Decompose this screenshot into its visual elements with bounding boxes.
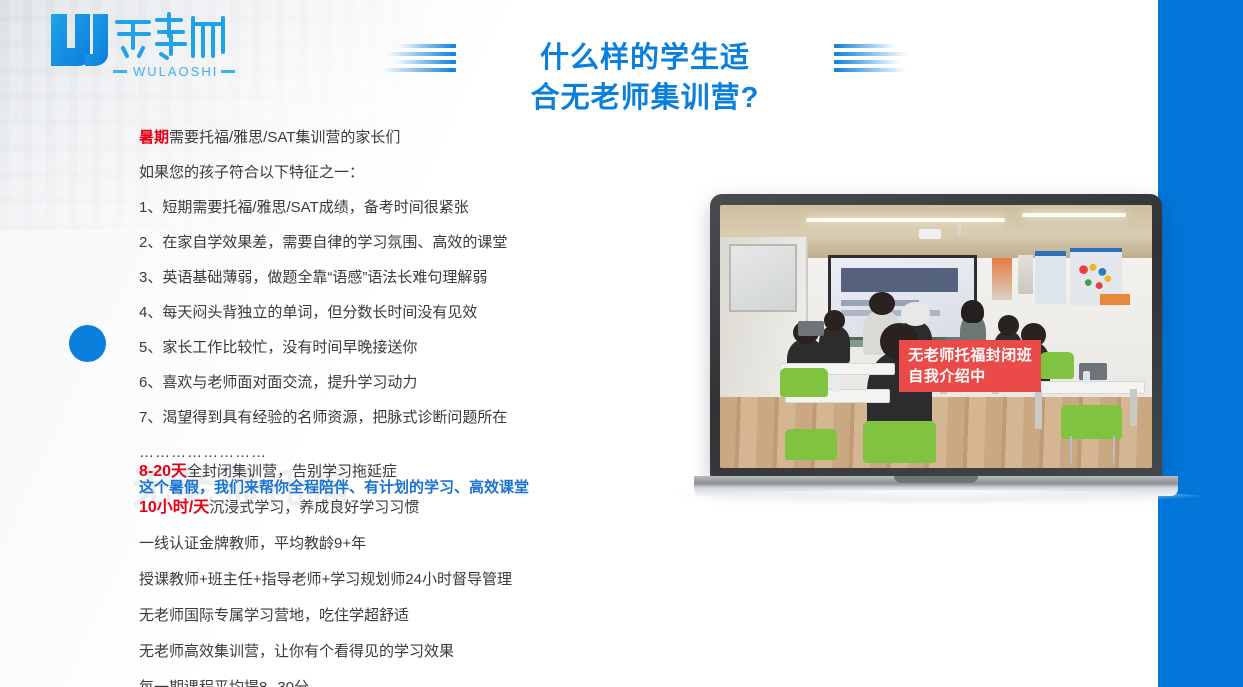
photo-projector-arm (958, 223, 961, 235)
feature-text: 每一期课程平均提8--30分 (139, 679, 309, 687)
laptop-base-shadow (666, 490, 1206, 504)
photo-wall-map (1035, 251, 1065, 304)
feature-text: 无老师高效集训营，让你有个看得见的学习效果 (139, 643, 454, 660)
ellipsis-line: …………………… (139, 443, 609, 463)
decorative-stripes-right (834, 44, 912, 72)
photo-chair (785, 429, 837, 461)
feature-text: 全封闭集训营，告别学习拖延症 (187, 463, 397, 480)
photo-teacher-hair (961, 300, 984, 324)
photo-bottle (832, 376, 840, 392)
photo-chair-leg (1113, 436, 1115, 462)
list-item: 1、短期需要托福/雅思/SAT成绩，备考时间很紧张 (139, 198, 609, 218)
photo-chair (780, 368, 828, 397)
body-copy-features: 8-20天全封闭集训营，告别学习拖延症 10小时/天沉浸式学习，养成良好学习习惯… (139, 462, 609, 687)
photo-caption-label: 无老师托福封闭班 自我介绍中 (899, 340, 1041, 392)
feature-row: 10小时/天沉浸式学习，养成良好学习习惯 (139, 498, 609, 518)
photo-caption-line-2: 自我介绍中 (908, 366, 1032, 387)
title-line-1: 什么样的学生适 (540, 38, 750, 78)
title-line-2: 合无老师集训营? (531, 78, 760, 118)
feature-row: 一线认证金牌教师，平均教龄9+年 (139, 534, 609, 554)
photo-student-cap (901, 302, 929, 326)
photo-bottle (1083, 371, 1090, 384)
slide-canvas: 无老师托福 (0, 0, 1243, 687)
photo-desk-leg (1035, 389, 1042, 428)
feature-highlight: 8-20天 (139, 463, 187, 480)
photo-wall-poster (1018, 255, 1033, 294)
laptop-screen: 无老师托福封闭班 自我介绍中 (720, 205, 1152, 468)
list-item: 7、渴望得到具有经验的名师资源，把脉式诊断问题所在 (139, 408, 609, 428)
feature-text: 沉浸式学习，养成良好学习习惯 (209, 499, 419, 516)
photo-slide-block (841, 268, 958, 292)
photo-chair (1040, 352, 1075, 378)
feature-row: 授课教师+班主任+指导老师+学习规划师24小时督导管理 (139, 570, 609, 590)
photo-desk-leg (1130, 389, 1137, 426)
photo-caption-line-1: 无老师托福封闭班 (908, 345, 1032, 366)
photo-laptop (798, 321, 824, 337)
wulaoshi-logo-icon: WULAOSHI (45, 8, 240, 80)
list-item: 3、英语基础薄弱，做题全靠“语感”语法长难句理解弱 (139, 268, 609, 288)
intro-rest: 需要托福/雅思/SAT集训营的家长们 (169, 129, 400, 146)
decorative-blue-dot (69, 325, 106, 362)
photo-wall-poster (1100, 294, 1130, 305)
page-title: 什么样的学生适 合无老师集训营? (430, 38, 860, 118)
photo-ceiling-light (1022, 213, 1126, 217)
photo-chair (1061, 405, 1121, 439)
feature-row: 每一期课程平均提8--30分 (139, 678, 609, 687)
subtitle-line: 如果您的孩子符合以下特征之一： (139, 163, 609, 183)
photo-chair (863, 421, 936, 463)
feature-text: 一线认证金牌教师，平均教龄9+年 (139, 535, 366, 552)
title-line-1-row: 什么样的学生适 (430, 38, 860, 78)
list-item: 6、喜欢与老师面对面交流，提升学习动力 (139, 373, 609, 393)
photo-wall-poster (992, 258, 1011, 300)
photo-window (729, 244, 798, 311)
intro-highlight: 暑期 (139, 129, 169, 146)
feature-row: 8-20天全封闭集训营，告别学习拖延症 (139, 462, 609, 482)
list-item: 2、在家自学效果差，需要自律的学习氛围、高效的课堂 (139, 233, 609, 253)
feature-row: 无老师高效集训营，让你有个看得见的学习效果 (139, 642, 609, 662)
photo-ceiling-light (806, 218, 1005, 222)
intro-line: 暑期需要托福/雅思/SAT集训营的家长们 (139, 128, 609, 148)
feature-row: 无老师国际专属学习营地，吃住学超舒适 (139, 606, 609, 626)
svg-text:WULAOSHI: WULAOSHI (133, 64, 218, 79)
laptop-lid: 无老师托福封闭班 自我介绍中 (710, 194, 1162, 479)
feature-text: 授课教师+班主任+指导老师+学习规划师24小时督导管理 (139, 571, 512, 588)
photo-projector (919, 229, 941, 239)
body-copy-top: 暑期需要托福/雅思/SAT集训营的家长们 如果您的孩子符合以下特征之一： 1、短… (139, 128, 609, 513)
brand-logo: WULAOSHI (45, 8, 240, 80)
feature-highlight: 10小时/天 (139, 499, 209, 516)
list-item: 4、每天闷头背独立的单词，但分数长时间没有见效 (139, 303, 609, 323)
feature-text: 无老师国际专属学习营地，吃住学超舒适 (139, 607, 409, 624)
decorative-stripes-left (378, 44, 456, 72)
laptop-mockup: 无老师托福封闭班 自我介绍中 (694, 194, 1178, 494)
classroom-photo: 无老师托福封闭班 自我介绍中 (720, 205, 1152, 468)
title-line-2-row: 合无老师集训营? (430, 78, 860, 118)
photo-chair-leg (1070, 436, 1072, 462)
list-item: 5、家长工作比较忙，没有时间早晚接送你 (139, 338, 609, 358)
